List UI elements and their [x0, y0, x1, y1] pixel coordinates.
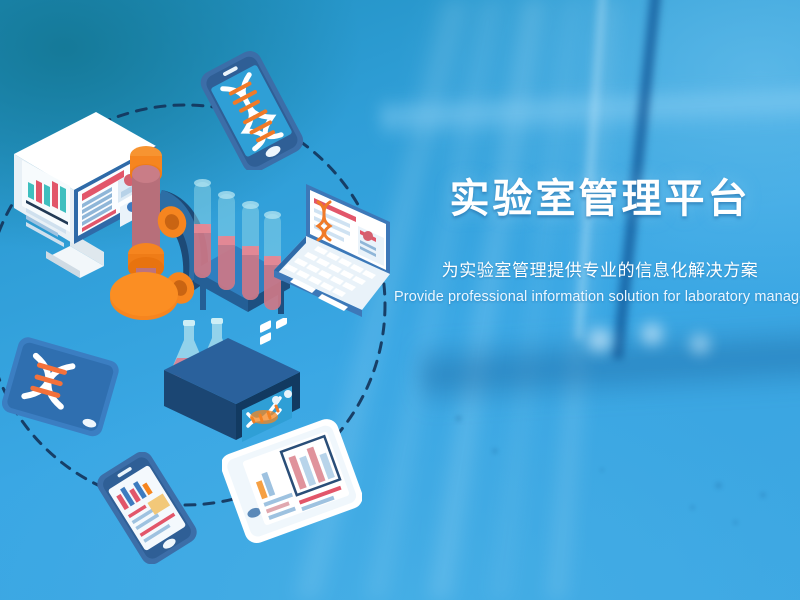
smartphone-chart-illustration [92, 452, 202, 564]
laptop-report-illustration [272, 178, 397, 323]
subtitle-chinese: 为实验室管理提供专业的信息化解决方案 [394, 256, 800, 281]
subtitle-english: Provide professional information solutio… [394, 289, 800, 305]
tablet-dna-illustration [2, 334, 120, 442]
page-title: 实验室管理平台 [394, 176, 800, 222]
smartphone-dna-illustration [196, 50, 306, 170]
tablet-chart-illustration [222, 418, 362, 546]
banner-text-block: 实验室管理平台 为实验室管理提供专业的信息化解决方案 Provide profe… [394, 176, 800, 305]
laboratory-platform-banner: 实验室管理平台 为实验室管理提供专业的信息化解决方案 Provide profe… [0, 0, 800, 600]
